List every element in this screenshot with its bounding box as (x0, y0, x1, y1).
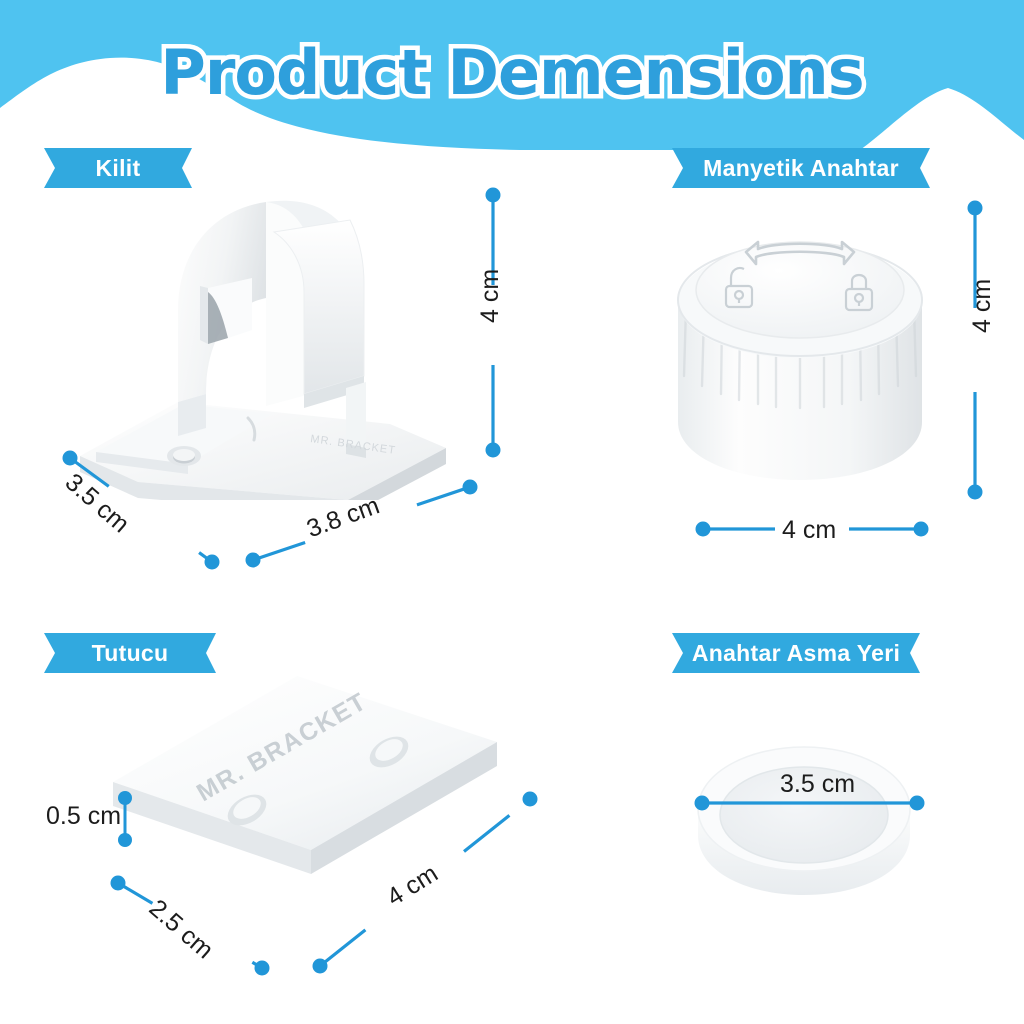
dimension-label-holder-diameter: 3.5 cm (780, 770, 855, 799)
dimension-endpoint (910, 796, 925, 811)
dimension-endpoint (695, 796, 710, 811)
dimension-lines-key-holder (0, 0, 1024, 1024)
infographic-page: Product Demensions Kilit Manyetik Anahta… (0, 0, 1024, 1024)
